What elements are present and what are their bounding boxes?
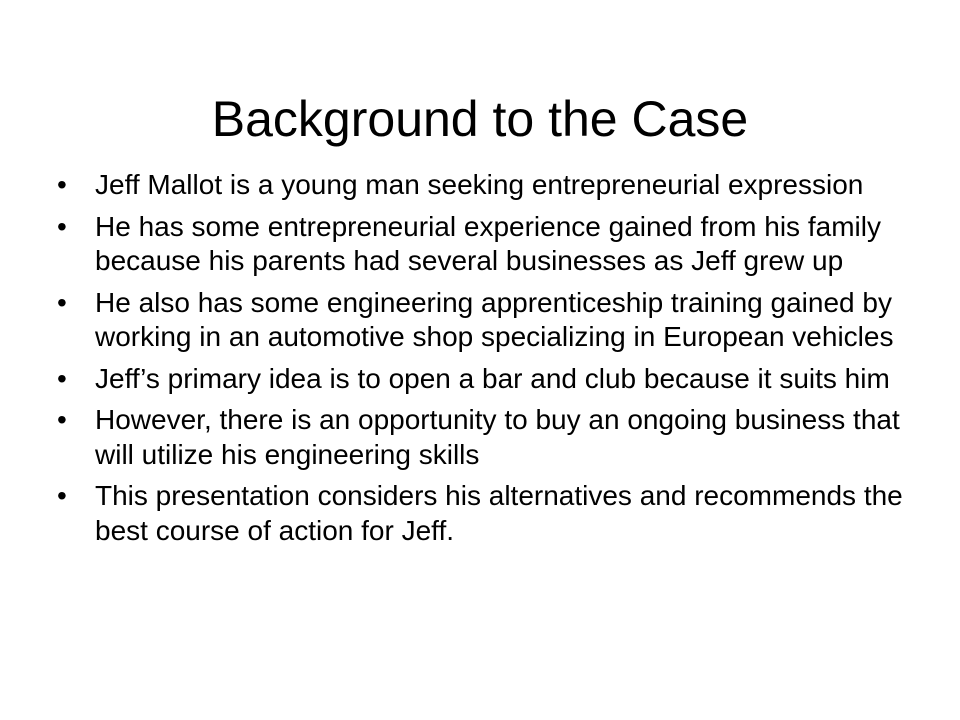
slide-body: • Jeff Mallot is a young man seeking ent… <box>52 168 912 548</box>
bullet-dot-icon: • <box>57 210 77 245</box>
bullet-dot-icon: • <box>57 168 77 203</box>
bullet-dot-icon: • <box>57 362 77 397</box>
bullet-text: However, there is an opportunity to buy … <box>95 403 912 472</box>
bullet-text: He also has some engineering apprentices… <box>95 286 912 355</box>
bullet-dot-icon: • <box>57 286 77 321</box>
bullet-item: • He has some entrepreneurial experience… <box>52 210 912 279</box>
bullet-item: • He also has some engineering apprentic… <box>52 286 912 355</box>
bullet-dot-icon: • <box>57 479 77 514</box>
bullet-item: • This presentation considers his altern… <box>52 479 912 548</box>
bullet-text: This presentation considers his alternat… <box>95 479 912 548</box>
bullet-dot-icon: • <box>57 403 77 438</box>
presentation-slide: Background to the Case • Jeff Mallot is … <box>0 0 960 720</box>
bullet-item: • Jeff Mallot is a young man seeking ent… <box>52 168 912 203</box>
bullet-item: • However, there is an opportunity to bu… <box>52 403 912 472</box>
bullet-text: Jeff Mallot is a young man seeking entre… <box>95 168 912 203</box>
bullet-list: • Jeff Mallot is a young man seeking ent… <box>52 168 912 548</box>
slide-title: Background to the Case <box>0 90 960 148</box>
bullet-text: Jeff’s primary idea is to open a bar and… <box>95 362 912 397</box>
bullet-text: He has some entrepreneurial experience g… <box>95 210 912 279</box>
bullet-item: • Jeff’s primary idea is to open a bar a… <box>52 362 912 397</box>
